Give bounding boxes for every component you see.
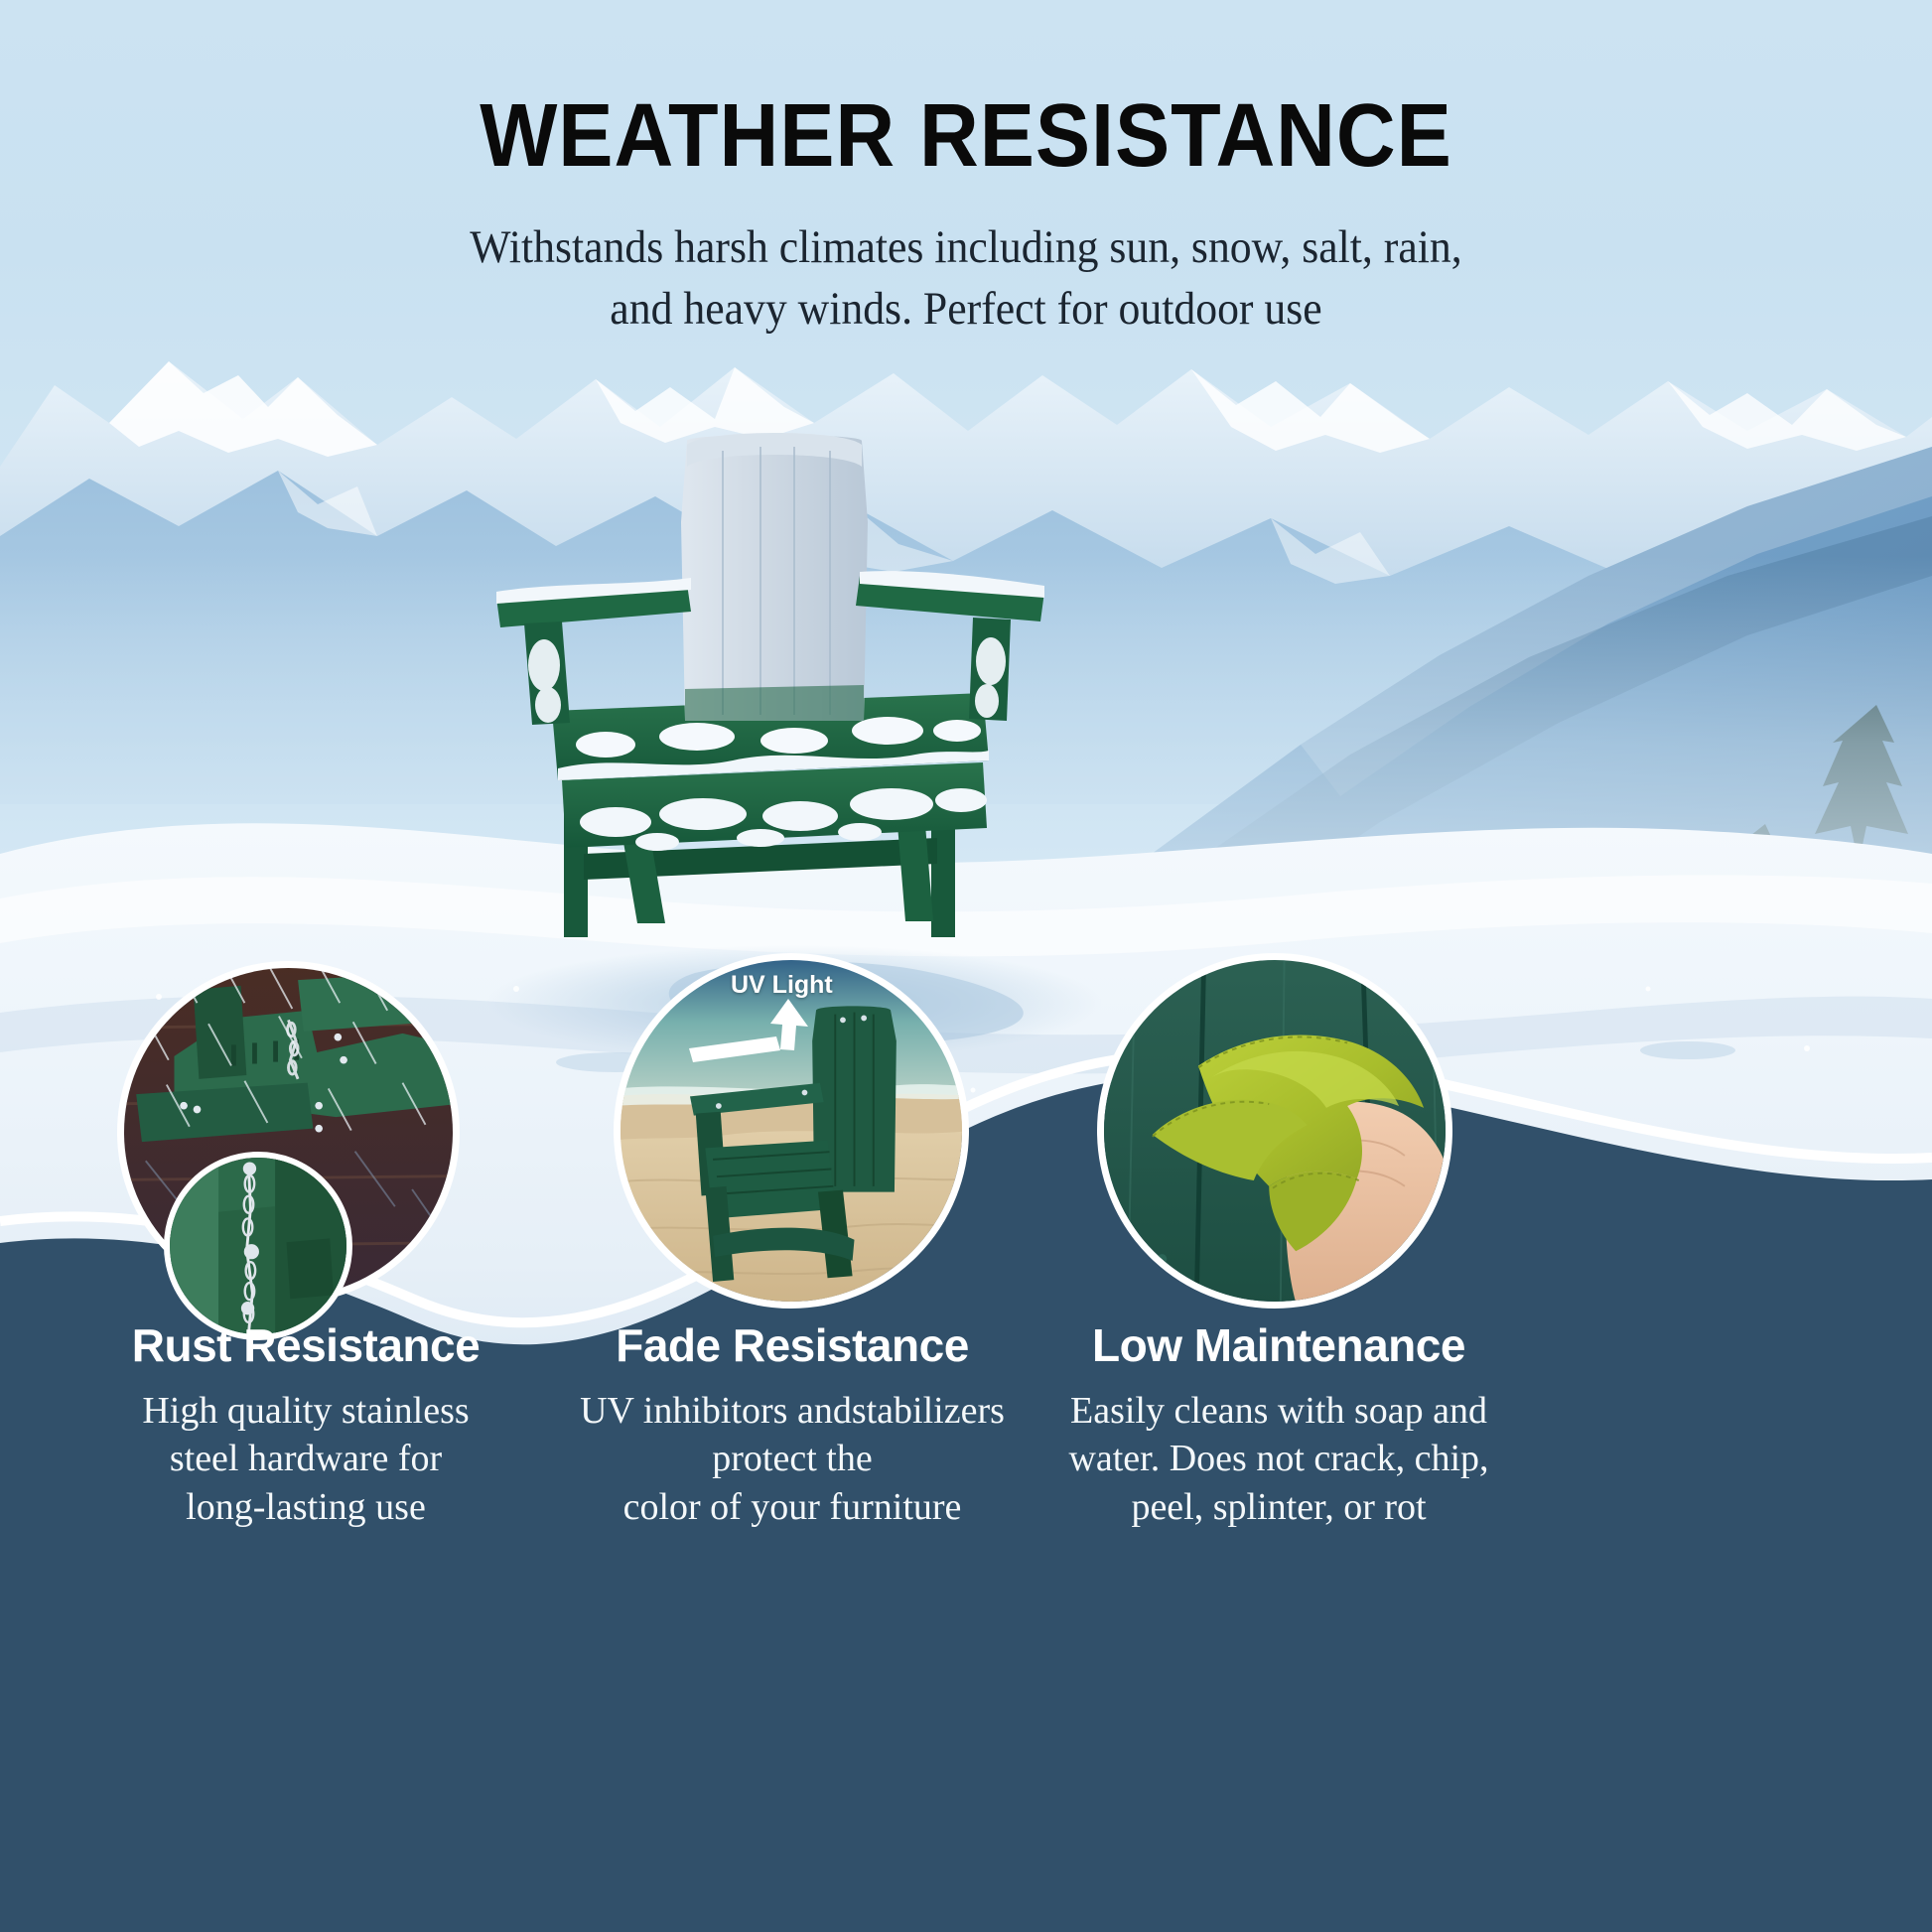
low-maintenance-image	[1097, 953, 1452, 1309]
card-body-line: long-lasting use	[28, 1483, 584, 1532]
card-body-line: peel, splinter, or rot	[1001, 1483, 1557, 1532]
subtitle-line-1: Withstands harsh climates including sun,…	[68, 216, 1864, 278]
page-subtitle: Withstands harsh climates including sun,…	[68, 181, 1864, 340]
chain-hardware-closeup	[164, 1152, 352, 1340]
card-body-line: water. Does not crack, chip,	[1001, 1435, 1557, 1483]
card-body-rust-resistance: High quality stainless steel hardware fo…	[28, 1371, 584, 1532]
rust-resistance-inset-detail	[164, 1152, 352, 1340]
hand-wiping-surface	[1097, 953, 1452, 1309]
card-title-rust-resistance: Rust Resistance	[28, 1320, 584, 1371]
card-body-line: UV inhibitors andstabilizers	[514, 1387, 1070, 1436]
uv-light-arrow-icon	[685, 993, 844, 1072]
card-body-line: Easily cleans with soap and	[1001, 1387, 1557, 1436]
card-body-line: High quality stainless	[28, 1387, 584, 1436]
card-body-fade-resistance: UV inhibitors andstabilizers protect the…	[514, 1371, 1070, 1532]
hero-chair-snow-covered	[467, 427, 1082, 983]
infographic-canvas: UV Light	[0, 0, 1932, 1932]
feature-card-fade-resistance: Fade Resistance UV inhibitors andstabili…	[514, 1320, 1070, 1531]
feature-cards: Rust Resistance High quality stainless s…	[0, 1320, 1932, 1618]
subtitle-line-2: and heavy winds. Perfect for outdoor use	[68, 278, 1864, 340]
card-title-low-maintenance: Low Maintenance	[1001, 1320, 1557, 1371]
card-body-line: color of your furniture	[514, 1483, 1070, 1532]
card-body-line: protect the	[514, 1435, 1070, 1483]
feature-card-low-maintenance: Low Maintenance Easily cleans with soap …	[1001, 1320, 1557, 1531]
card-body-line: steel hardware for	[28, 1435, 584, 1483]
card-title-fade-resistance: Fade Resistance	[514, 1320, 1070, 1371]
page-title: WEATHER RESISTANCE	[77, 0, 1855, 181]
header-block: WEATHER RESISTANCE Withstands harsh clim…	[0, 0, 1932, 340]
feature-card-rust-resistance: Rust Resistance High quality stainless s…	[28, 1320, 584, 1531]
card-body-low-maintenance: Easily cleans with soap and water. Does …	[1001, 1371, 1557, 1532]
